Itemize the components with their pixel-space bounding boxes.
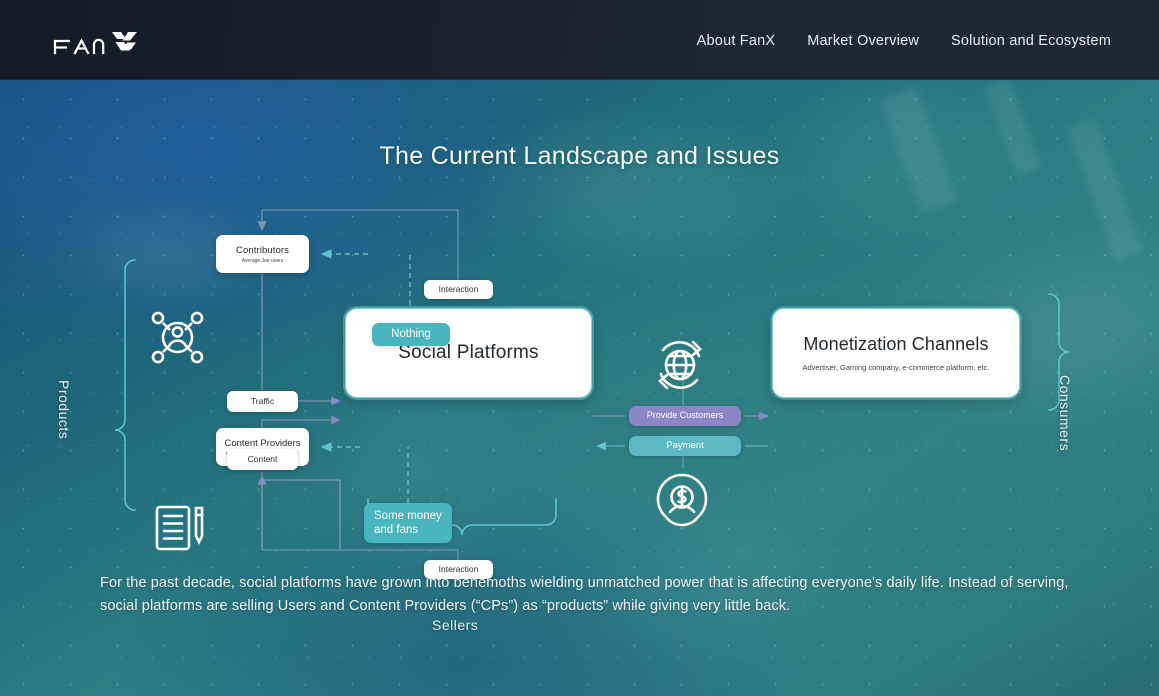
page-title: The Current Landscape and Issues — [0, 142, 1159, 171]
bracket-label-sellers: Sellers — [432, 617, 478, 633]
slide-paragraph: For the past decade, social platforms ha… — [100, 572, 1075, 619]
chip-some-money-and-fans: Some money and fans — [364, 503, 452, 543]
nav-solution-ecosystem[interactable]: Solution and Ecosystem — [951, 33, 1111, 49]
chip-some-money-line2: and fans — [364, 523, 452, 537]
site-header: About FanX Market Overview Solution and … — [0, 0, 1159, 80]
fanx-logo[interactable] — [52, 28, 144, 58]
document-pencil-icon — [152, 500, 208, 561]
chip-interaction-top: Interaction — [424, 280, 493, 299]
page-root: About FanX Market Overview Solution and … — [0, 0, 1159, 696]
node-contributors-title: Contributors — [236, 245, 289, 256]
main-nav: About FanX Market Overview Solution and … — [697, 33, 1111, 49]
globe-refresh-icon — [649, 336, 711, 399]
users-network-icon — [146, 306, 209, 374]
chip-content: Content — [227, 449, 298, 470]
chip-traffic: Traffic — [227, 391, 298, 412]
fanx-x-glyph — [112, 32, 137, 51]
fanx-wordmark-icon — [52, 28, 144, 58]
chip-provide-customers: Provide Customers — [629, 406, 741, 426]
node-monetization-channels-subtitle: Advertiser, Gaming company, e-commerce p… — [802, 363, 989, 372]
node-contributors[interactable]: Contributors Average Joe users — [216, 235, 309, 273]
node-contributors-subtitle: Average Joe users — [242, 258, 284, 264]
nav-market-overview[interactable]: Market Overview — [807, 33, 919, 49]
money-circle-icon — [652, 470, 712, 533]
bracket-label-consumers: Consumers — [1057, 375, 1073, 451]
chip-nothing: Nothing — [372, 323, 450, 346]
nav-about-fanx[interactable]: About FanX — [697, 33, 776, 49]
node-monetization-channels-title: Monetization Channels — [803, 334, 988, 355]
node-social-platforms[interactable]: Social Platforms — [345, 308, 592, 398]
node-content-providers-title: Content Providers — [224, 438, 300, 449]
bracket-label-products: Products — [56, 380, 72, 439]
chip-some-money-line1: Some money — [364, 509, 452, 523]
node-monetization-channels[interactable]: Monetization Channels Advertiser, Gaming… — [772, 308, 1020, 398]
chip-payment: Payment — [629, 436, 741, 456]
